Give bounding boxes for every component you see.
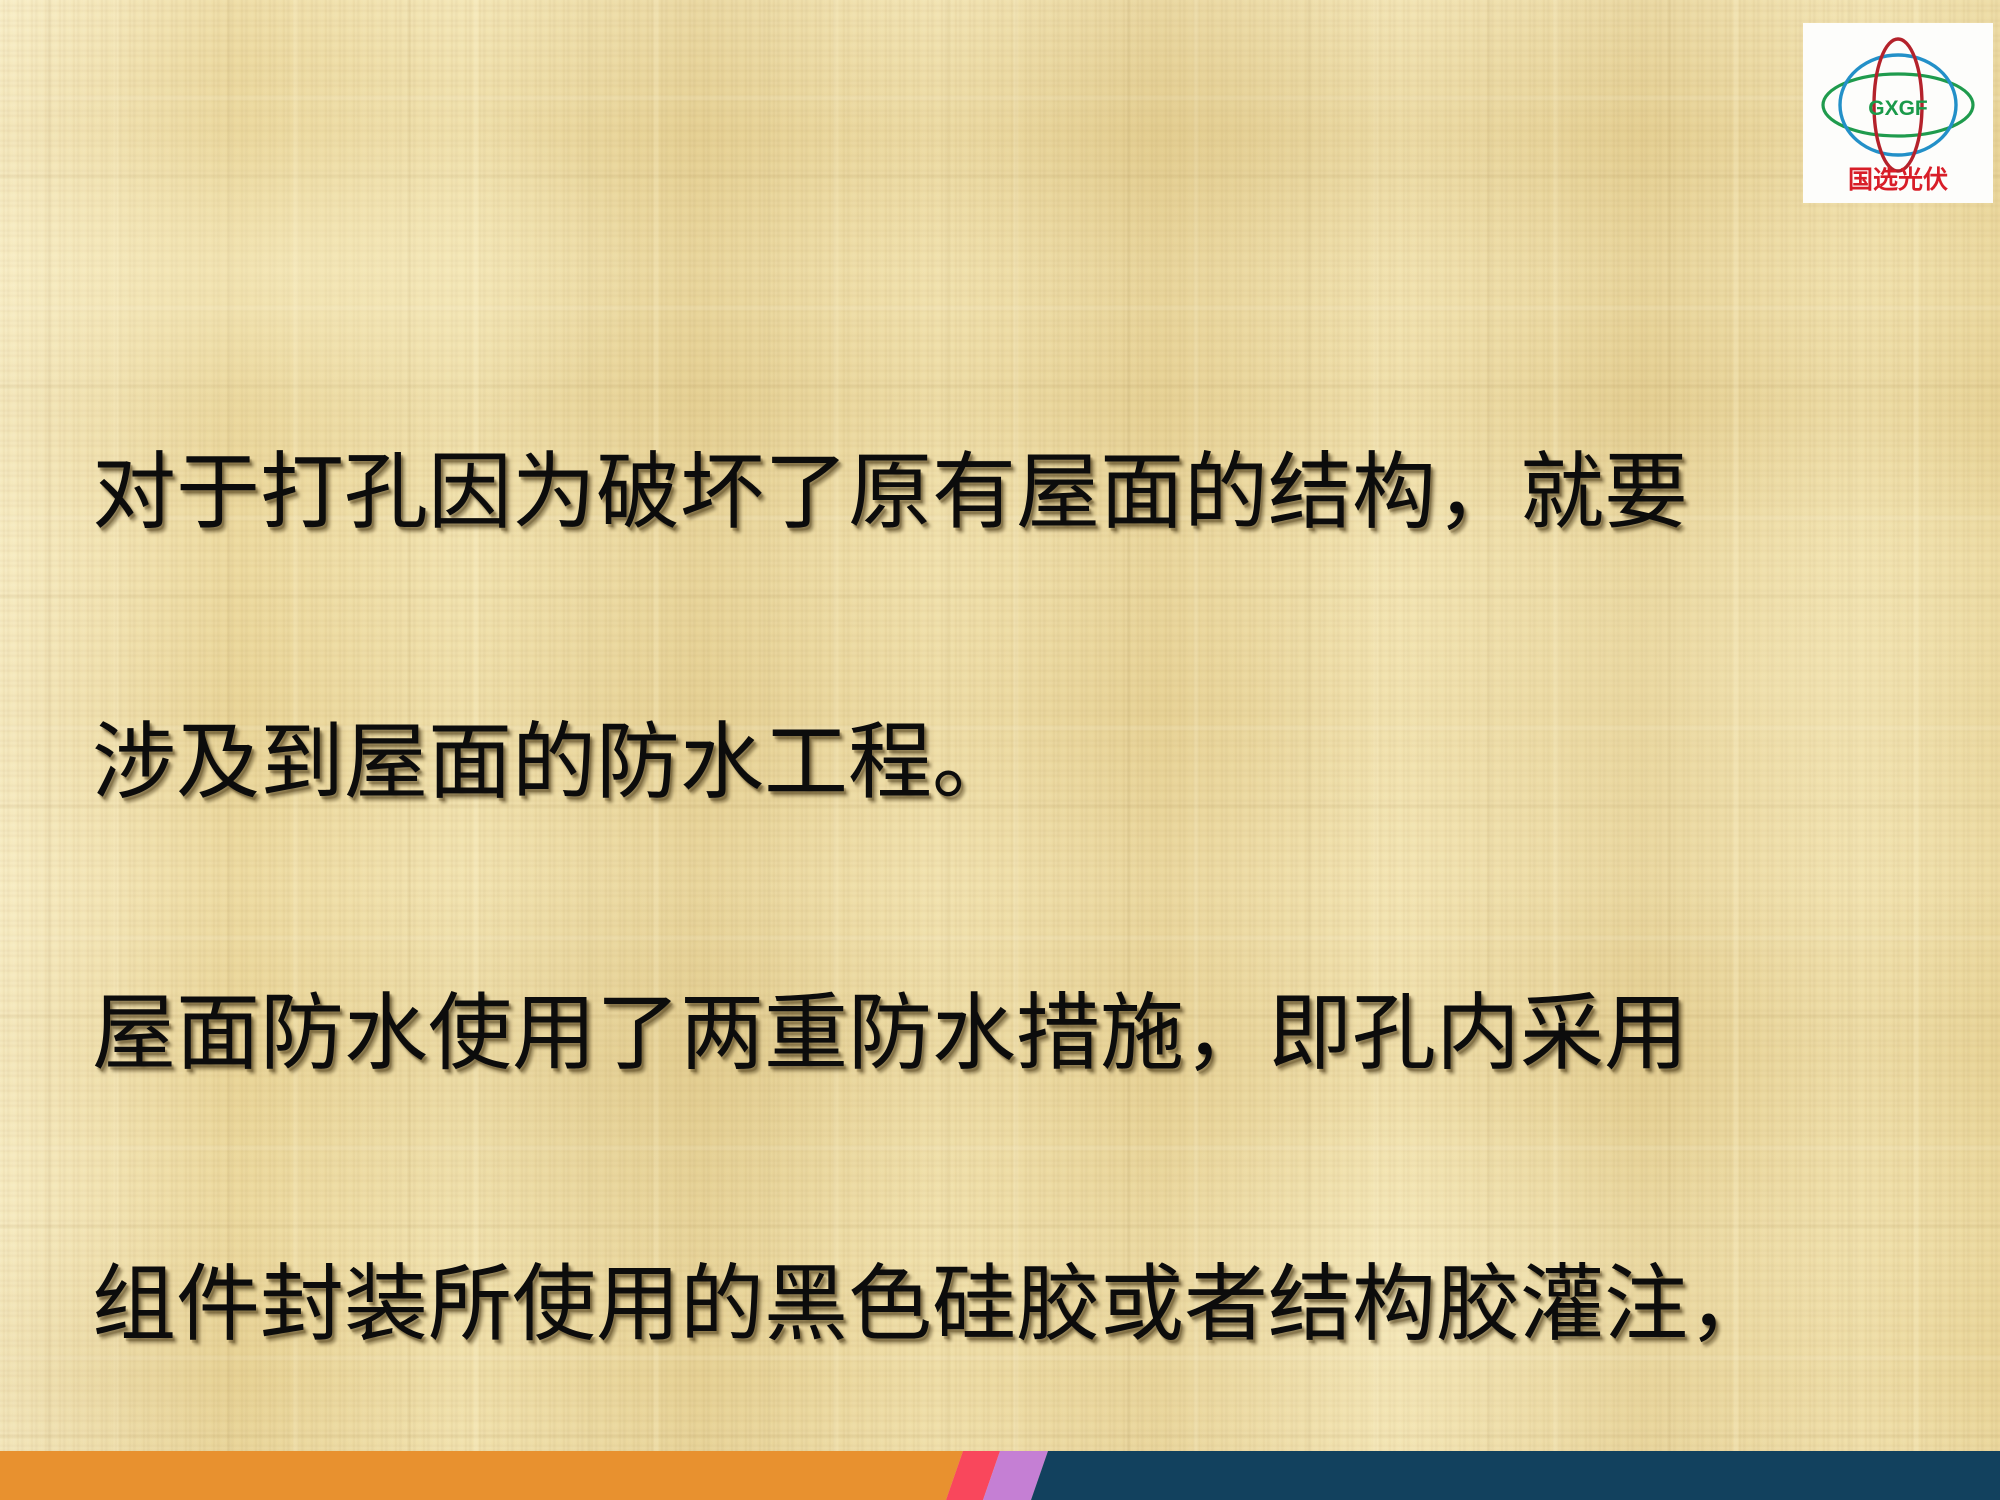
body-text-line-1: 对于打孔因为破坏了原有屋面的结构，就要 xyxy=(92,449,1902,539)
slide-canvas: GXGF 国选光伏 对于打孔因为破坏了原有屋面的结构，就要 涉及到屋面的防水工程… xyxy=(0,0,2000,1500)
body-text-line-4: 组件封装所使用的黑色硅胶或者结构胶灌注， xyxy=(92,1261,1902,1351)
company-logo: GXGF 国选光伏 xyxy=(1803,23,1993,203)
body-text-line-3: 屋面防水使用了两重防水措施，即孔内采用 xyxy=(92,990,1902,1080)
gxgf-logo-icon: GXGF 国选光伏 xyxy=(1803,23,1993,203)
slide-body-text: 对于打孔因为破坏了原有屋面的结构，就要 涉及到屋面的防水工程。 屋面防水使用了两… xyxy=(92,268,1902,1500)
body-text-line-2: 涉及到屋面的防水工程。 xyxy=(92,719,1902,809)
logo-acronym-text: GXGF xyxy=(1868,97,1928,120)
bottom-bar-segment-orange xyxy=(0,1451,963,1500)
bottom-decorative-bar xyxy=(0,1451,2000,1500)
logo-chinese-name-text: 国选光伏 xyxy=(1848,166,1948,194)
bottom-bar-segment-navy xyxy=(1031,1451,2000,1500)
